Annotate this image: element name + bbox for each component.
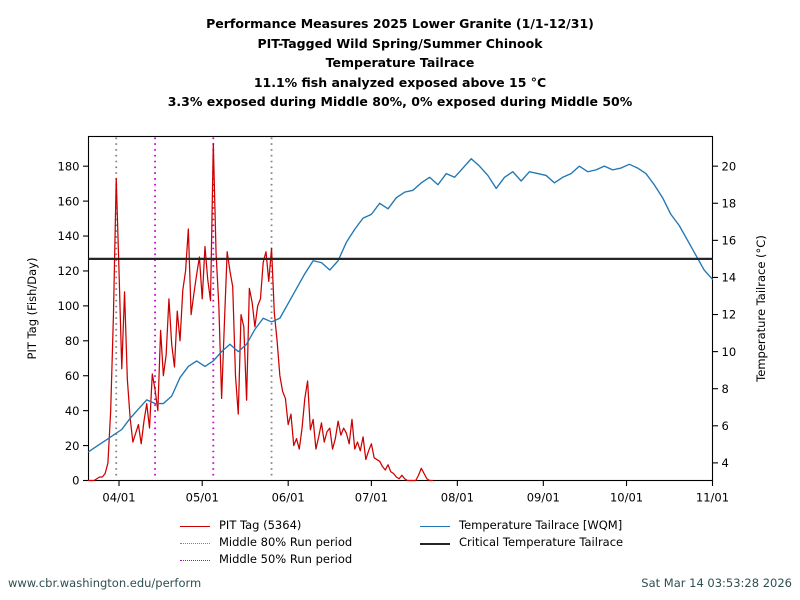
legend-swatch-middle-80 bbox=[180, 537, 210, 549]
legend-swatch-pit-tag bbox=[180, 520, 210, 532]
y2-axis-tick-label: 14 bbox=[722, 271, 737, 285]
legend-column-right: Temperature Tailrace [WQM] Critical Temp… bbox=[420, 518, 623, 552]
chart-canvas: 04/0105/0106/0107/0108/0109/0110/0111/01… bbox=[0, 0, 800, 600]
legend-item-middle-50: Middle 50% Run period bbox=[180, 552, 352, 567]
y-axis-tick-label: 0 bbox=[72, 474, 79, 488]
legend-item-pit-tag: PIT Tag (5364) bbox=[180, 518, 352, 533]
series-pit-tag-line bbox=[89, 143, 433, 480]
y2-axis-tick-label: 10 bbox=[722, 345, 737, 359]
legend-column-left: PIT Tag (5364) Middle 80% Run period Mid… bbox=[180, 518, 352, 569]
legend-label-critical-temperature: Critical Temperature Tailrace bbox=[459, 536, 623, 549]
y-axis-tick-label: 20 bbox=[65, 439, 80, 453]
y-axis-title: PIT Tag (Fish/Day) bbox=[25, 258, 39, 360]
x-axis-tick-label: 05/01 bbox=[186, 491, 219, 505]
y2-axis-tick-label: 20 bbox=[722, 159, 737, 173]
x-axis-tick-label: 09/01 bbox=[527, 491, 560, 505]
y2-axis-tick-label: 18 bbox=[722, 196, 737, 210]
y-axis-tick-label: 40 bbox=[65, 404, 80, 418]
legend-label-middle-50: Middle 50% Run period bbox=[219, 553, 352, 566]
legend-swatch-critical-temperature bbox=[420, 537, 450, 549]
x-axis-tick-label: 10/01 bbox=[610, 491, 643, 505]
legend-swatch-middle-50 bbox=[180, 554, 210, 566]
legend-item-temperature: Temperature Tailrace [WQM] bbox=[420, 518, 623, 533]
legend-label-middle-80: Middle 80% Run period bbox=[219, 536, 352, 549]
legend-label-pit-tag: PIT Tag (5364) bbox=[219, 519, 301, 532]
y2-axis-tick-label: 12 bbox=[722, 308, 737, 322]
legend-swatch-temperature bbox=[420, 520, 450, 532]
chart-page: Performance Measures 2025 Lower Granite … bbox=[0, 0, 800, 600]
x-axis-tick-label: 04/01 bbox=[102, 491, 135, 505]
y2-axis-tick-label: 6 bbox=[722, 419, 729, 433]
legend-item-middle-80: Middle 80% Run period bbox=[180, 535, 352, 550]
x-axis-tick-label: 08/01 bbox=[441, 491, 474, 505]
y-axis-tick-label: 180 bbox=[58, 159, 80, 173]
y2-axis-tick-label: 16 bbox=[722, 234, 737, 248]
x-axis-tick-label: 07/01 bbox=[355, 491, 388, 505]
legend-item-critical-temperature: Critical Temperature Tailrace bbox=[420, 535, 623, 550]
y2-axis-tick-label: 8 bbox=[722, 382, 729, 396]
footer-url: www.cbr.washington.edu/perform bbox=[8, 576, 201, 590]
footer-timestamp: Sat Mar 14 03:53:28 2026 bbox=[641, 576, 792, 590]
x-axis-tick-label: 11/01 bbox=[696, 491, 729, 505]
legend-label-temperature: Temperature Tailrace [WQM] bbox=[459, 519, 622, 532]
chart-legend: PIT Tag (5364) Middle 80% Run period Mid… bbox=[180, 518, 700, 566]
y-axis-tick-label: 100 bbox=[58, 299, 80, 313]
y-axis-tick-label: 80 bbox=[65, 334, 80, 348]
y2-axis-title: Temperature Tailrace (°C) bbox=[754, 235, 768, 383]
plot-area: 04/0105/0106/0107/0108/0109/0110/0111/01… bbox=[0, 0, 800, 600]
y-axis-tick-label: 120 bbox=[58, 264, 80, 278]
y-axis-tick-label: 160 bbox=[58, 194, 80, 208]
x-axis-tick-label: 06/01 bbox=[272, 491, 305, 505]
y-axis-tick-label: 60 bbox=[65, 369, 80, 383]
y-axis-tick-label: 140 bbox=[58, 229, 80, 243]
y2-axis-tick-label: 4 bbox=[722, 456, 729, 470]
